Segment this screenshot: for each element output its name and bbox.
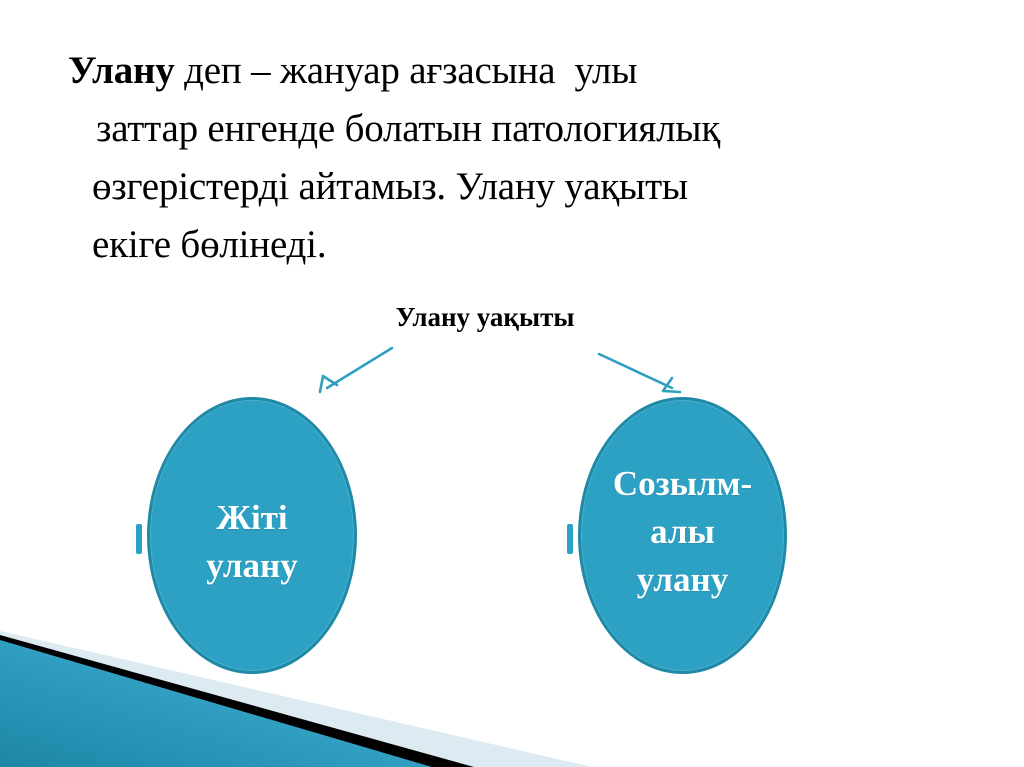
arrow-to-chronic-icon [599,354,680,392]
body-line-1-rest: деп – жануар ағзасына улы [175,49,638,92]
connector-stub-left [136,524,142,554]
body-line-1-bold: Улану [68,49,175,92]
body-line-1: Улану деп – жануар ағзасына улы [68,42,948,100]
slide-canvas: Улану деп – жануар ағзасына улы заттар е… [0,0,1024,767]
connector-stub-right [567,524,573,554]
diagram-title: Улану уақыты [0,302,970,333]
body-line-3: өзгерістерді айтамыз. Улану уақыты [68,158,948,216]
diagram-node-acute[interactable]: Жіті улану [147,397,357,674]
diagram-node-acute-label: Жіті улану [206,494,297,590]
diagram-node-chronic[interactable]: Созылм- алы улану [578,397,787,674]
slide-decoration [0,607,1024,767]
body-line-2: заттар енгенде болатын патологиялық [68,100,948,158]
body-line-4: екіге бөлінеді. [68,216,948,274]
diagram-node-chronic-label: Созылм- алы улану [613,460,752,604]
arrow-to-acute-icon [320,348,392,392]
body-paragraph: Улану деп – жануар ағзасына улы заттар е… [68,42,948,274]
